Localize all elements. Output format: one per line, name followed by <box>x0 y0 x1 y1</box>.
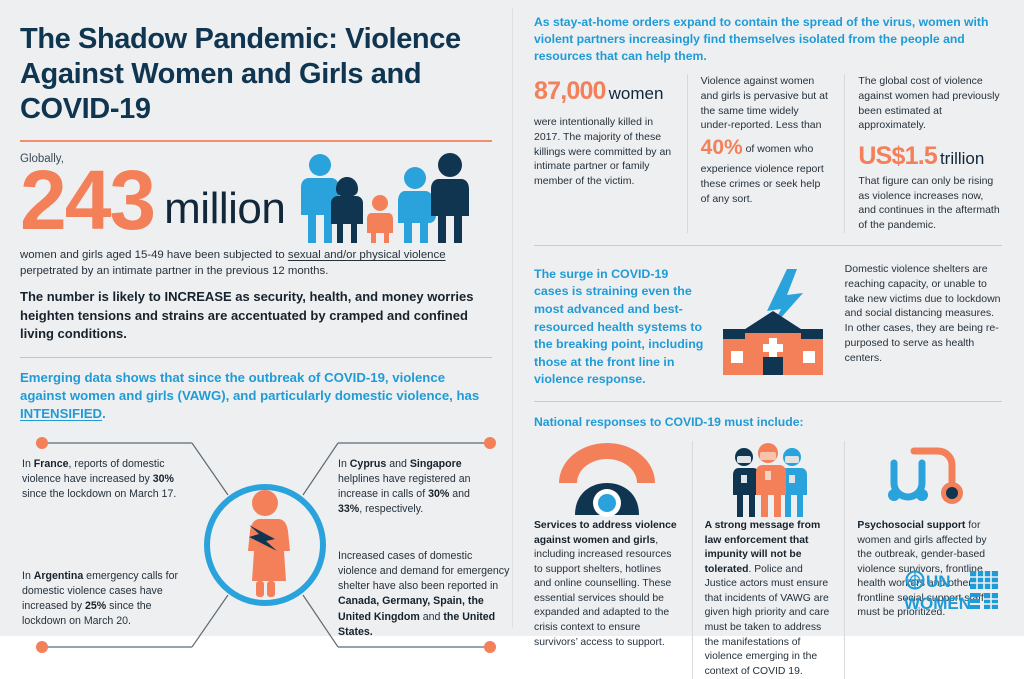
stat-87000-value: 87,000 <box>534 77 606 105</box>
un-women-logo: UN WOMEN <box>904 569 1000 620</box>
hospital-lightning-icon-wrap <box>705 258 844 389</box>
stat-cost-value: US$1.5 <box>858 142 937 170</box>
stat-cost-headline: US$1.5 trillion <box>858 139 1002 174</box>
family-figures-icon <box>298 151 470 243</box>
emerging-data-heading: Emerging data shows that since the outbr… <box>20 369 492 424</box>
diagram-text-argentina: In Argentina emergency calls for domesti… <box>22 569 180 629</box>
emerging-head-part1: Emerging data shows that since the outbr… <box>20 370 479 403</box>
hospital-lightning-icon <box>715 267 835 379</box>
national-responses-heading: National responses to COVID-19 must incl… <box>534 414 1002 431</box>
un-women-logo-mark: UN WOMEN <box>904 569 1000 615</box>
un-logo-line1: UN <box>926 572 951 591</box>
response-services-text: Services to address violence against wom… <box>534 519 680 650</box>
right-section-rule-1 <box>534 245 1002 246</box>
stat-cost-unit: trillion <box>940 149 984 168</box>
stat-87000-body: were intentionally killed in 2017. The m… <box>534 115 674 188</box>
response-psychosocial-bold: Psychosocial support <box>857 520 965 531</box>
diagram-text-france: In France, reports of domestic violence … <box>22 457 180 502</box>
stat-cost-body-before: The global cost of violence against wome… <box>858 74 1002 133</box>
telephone-icon <box>553 443 661 517</box>
left-column: The Shadow Pandemic: Violence Against Wo… <box>0 0 512 636</box>
response-block-services: Services to address violence against wom… <box>534 441 692 679</box>
emerging-head-end: . <box>102 406 106 421</box>
response-block-psychosocial: Psychosocial support for women and girls… <box>844 441 1002 679</box>
emerging-head-underlined: INTENSIFIED <box>20 406 102 421</box>
big-stat-description: women and girls aged 15-49 have been sub… <box>20 247 492 279</box>
diagram-text-cyprus-singapore: In Cyprus and Singapore helplines have r… <box>338 457 496 517</box>
stat-40pct-body-before: Violence against women and girls is perv… <box>701 75 828 131</box>
surge-body: Domestic violence shelters are reaching … <box>845 258 1002 389</box>
stats-row: 87,000 women were intentionally killed i… <box>534 74 1002 233</box>
country-examples-diagram: In France, reports of domestic violence … <box>20 429 492 661</box>
stat-block-87000: 87,000 women were intentionally killed i… <box>534 74 687 233</box>
response-law-text: A strong message from law enforcement th… <box>705 519 833 679</box>
section-rule <box>20 357 492 358</box>
stat-desc-part1: women and girls aged 15-49 have been sub… <box>20 249 288 261</box>
stat-cost-body-after: That figure can only be rising as violen… <box>858 174 1002 233</box>
increase-note: The number is likely to INCREASE as secu… <box>20 288 492 343</box>
national-responses-row: Services to address violence against wom… <box>534 441 1002 679</box>
stat-block-cost: The global cost of violence against wome… <box>844 74 1002 233</box>
telephone-icon-wrap <box>534 441 680 519</box>
stethoscope-icon-wrap <box>857 441 1002 519</box>
stat-desc-part2: perpetrated by an intimate partner in th… <box>20 265 328 277</box>
response-law-body: . Police and Justice actors must ensure … <box>705 564 830 677</box>
stat-desc-underlined: sexual and/or physical violence <box>288 249 446 261</box>
big-number: 243 <box>20 163 154 239</box>
diagram-text-other-countries: Increased cases of domestic violence and… <box>338 549 510 639</box>
three-people-masks-icon-wrap <box>705 441 833 519</box>
stat-40pct-value: 40% <box>701 136 743 159</box>
surge-block: The surge in COVID-19 cases is straining… <box>534 258 1002 389</box>
response-block-law: A strong message from law enforcement th… <box>692 441 845 679</box>
page-title: The Shadow Pandemic: Violence Against Wo… <box>20 22 492 126</box>
big-number-unit: million <box>164 184 285 239</box>
surge-heading: The surge in COVID-19 cases is straining… <box>534 258 705 389</box>
title-rule <box>20 140 492 142</box>
stay-at-home-heading: As stay-at-home orders expand to contain… <box>534 14 1002 65</box>
stat-block-40pct: Violence against women and girls is perv… <box>687 74 845 233</box>
big-stat-row: 243 million <box>20 163 492 239</box>
stat-87000-headline: 87,000 women <box>534 74 674 109</box>
un-logo-line2: WOMEN <box>904 594 971 613</box>
stat-87000-unit: women <box>609 84 664 103</box>
three-people-masks-icon <box>727 443 809 517</box>
response-services-body: , including increased resources to suppo… <box>534 535 671 648</box>
right-section-rule-2 <box>534 401 1002 402</box>
stethoscope-icon <box>880 443 980 517</box>
infographic-page: The Shadow Pandemic: Violence Against Wo… <box>0 0 1024 636</box>
right-column: As stay-at-home orders expand to contain… <box>512 0 1024 636</box>
